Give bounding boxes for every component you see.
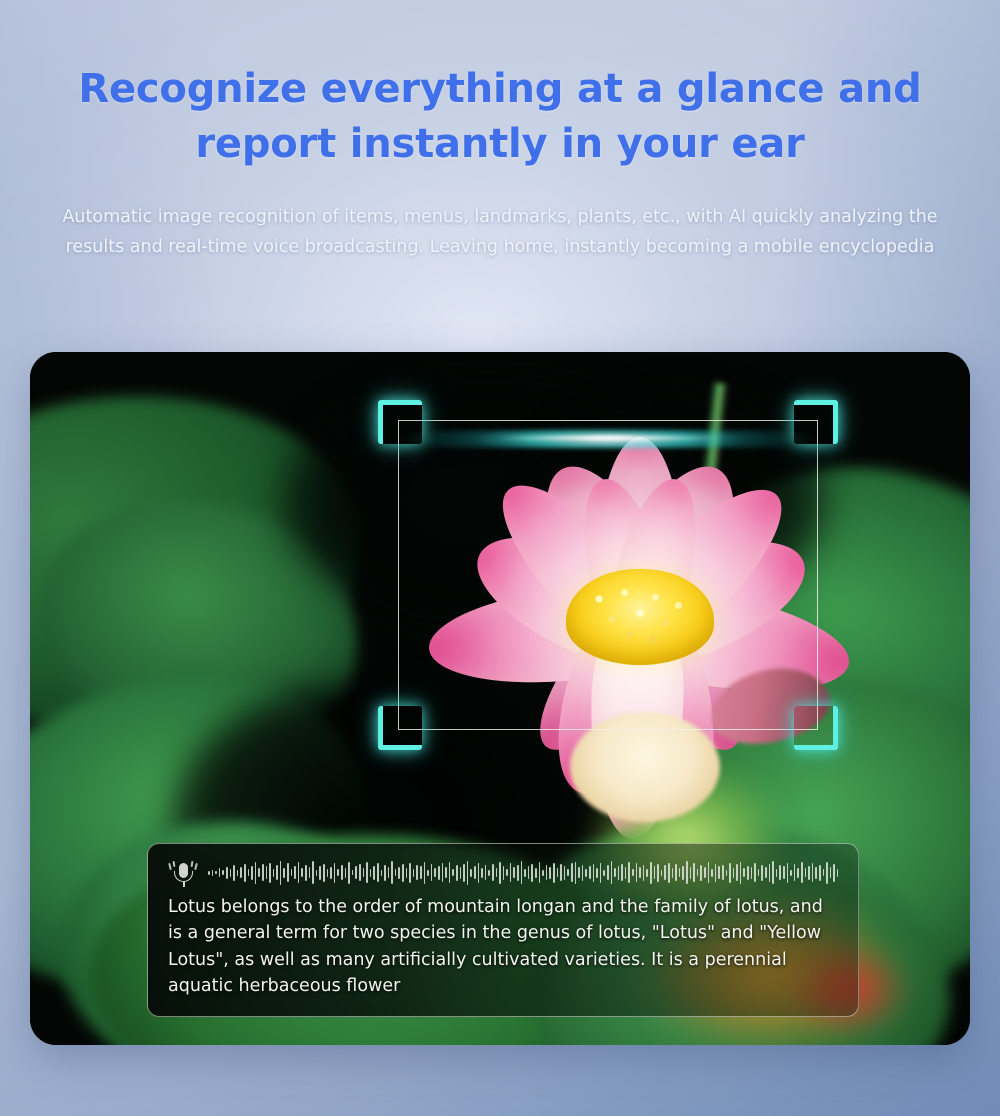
waveform-bar: [391, 861, 393, 884]
waveform-bar: [636, 863, 638, 882]
waveform-bar: [409, 863, 411, 883]
waveform-bar: [787, 863, 789, 883]
waveform-bar: [661, 870, 663, 876]
waveform-bar: [535, 868, 537, 878]
waveform-bar: [513, 867, 515, 878]
waveform-bar: [801, 862, 803, 883]
waveform-bar: [618, 866, 620, 880]
waveform-bar: [668, 863, 670, 883]
waveform-bar: [614, 868, 616, 877]
waveform-bar: [384, 865, 386, 881]
waveform-bar: [424, 862, 426, 884]
waveform-bar: [215, 871, 217, 874]
waveform-bar: [654, 866, 656, 879]
scan-corner-br-icon: [794, 706, 838, 750]
header: Recognize everything at a glance and rep…: [0, 0, 1000, 263]
scan-frame: [378, 400, 838, 750]
waveform-bar: [797, 868, 799, 878]
waveform-bar: [736, 864, 738, 881]
waveform-bar: [718, 866, 720, 879]
waveform-bar: [657, 864, 659, 882]
waveform-bar: [769, 864, 771, 882]
waveform-bar: [646, 869, 648, 877]
waveform-bar: [316, 870, 318, 876]
waveform-bar: [539, 862, 541, 883]
waveform-bar: [837, 869, 838, 877]
waveform-bar: [305, 865, 307, 881]
waveform-bar: [560, 864, 562, 881]
waveform-bar: [726, 870, 728, 876]
waveform-bar: [456, 865, 458, 881]
waveform-bar: [603, 870, 605, 876]
waveform-bar: [406, 868, 408, 878]
waveform-bar: [478, 863, 480, 883]
mic-sound-tick: [173, 861, 176, 867]
microphone-icon: [168, 859, 198, 887]
waveform-bar: [319, 866, 321, 880]
waveform-bar: [445, 867, 447, 878]
waveform-bar: [761, 865, 763, 881]
mic-sound-tick: [191, 861, 194, 867]
waveform-bar: [255, 862, 257, 884]
waveform-bar: [298, 862, 300, 883]
waveform-bar: [460, 867, 462, 879]
mic-sound-tick: [168, 862, 172, 869]
audio-indicator-row: [168, 858, 838, 888]
waveform-bar: [355, 866, 357, 879]
waveform-bar: [611, 861, 613, 884]
waveform-bar: [549, 867, 551, 879]
waveform-bar: [334, 863, 336, 883]
waveform-bar: [643, 865, 645, 881]
waveform-bar: [672, 868, 674, 878]
waveform-bar: [492, 864, 494, 881]
waveform-bar: [521, 861, 523, 884]
waveform-bar: [413, 869, 415, 877]
waveform-bar: [740, 862, 742, 884]
waveform-bar: [557, 868, 559, 877]
waveform-bar: [363, 868, 365, 877]
waveform-bar: [381, 870, 383, 876]
waveform-bar: [776, 869, 778, 877]
waveform-bar: [395, 869, 397, 876]
waveform-bar: [280, 861, 282, 885]
waveform-bar: [485, 865, 487, 880]
waveform-bar: [262, 864, 264, 881]
waveform-bar: [596, 868, 598, 878]
waveform-bar: [826, 862, 828, 884]
waveform-bar: [470, 869, 472, 877]
recognition-result-text: Lotus belongs to the order of mountain l…: [168, 894, 838, 1000]
waveform-bar: [715, 864, 717, 882]
waveform-bar: [276, 865, 278, 880]
waveform-bar: [503, 866, 505, 880]
waveform-bar: [621, 864, 623, 881]
waveform-bar: [639, 867, 641, 878]
waveform-bar: [553, 863, 555, 883]
waveform-bar: [772, 861, 774, 884]
waveform-bar: [370, 869, 372, 877]
waveform-bar: [708, 862, 710, 883]
waveform-bar: [693, 863, 695, 882]
waveform-bar: [632, 869, 634, 876]
waveform-bar: [524, 869, 526, 877]
waveform-bar: [833, 864, 835, 882]
waveform-bar: [312, 861, 314, 884]
waveform-bar: [690, 867, 692, 879]
waveform-bar: [819, 865, 821, 881]
waveform-bar: [496, 868, 498, 877]
waveform-bar: [585, 869, 587, 877]
audio-waveform-icon: [208, 860, 838, 886]
waveform-bar: [488, 870, 490, 876]
waveform-bar: [571, 863, 573, 882]
waveform-bar: [830, 867, 832, 878]
waveform-bar: [352, 870, 354, 875]
scan-frame-border: [398, 420, 818, 730]
waveform-bar: [531, 864, 533, 882]
waveform-bar: [729, 863, 731, 883]
waveform-bar: [416, 865, 418, 880]
mic-sound-tick: [194, 862, 198, 869]
scan-corner-tr-icon: [794, 400, 838, 444]
waveform-bar: [452, 869, 454, 876]
waveform-bar: [528, 866, 530, 879]
waveform-bar: [506, 869, 508, 876]
waveform-bar: [499, 862, 501, 884]
waveform-bar: [675, 864, 677, 881]
waveform-bar: [327, 869, 329, 877]
page-title: Recognize everything at a glance and rep…: [0, 62, 1000, 172]
waveform-bar: [682, 866, 684, 880]
waveform-bar: [244, 864, 246, 882]
waveform-bar: [438, 866, 440, 880]
waveform-bar: [323, 864, 325, 882]
waveform-bar: [266, 866, 268, 879]
waveform-bar: [230, 869, 232, 877]
waveform-bar: [273, 869, 275, 877]
waveform-bar: [309, 867, 311, 878]
waveform-bar: [442, 863, 444, 882]
waveform-bar: [567, 869, 569, 876]
waveform-bar: [722, 865, 724, 880]
waveform-bar: [208, 871, 210, 875]
waveform-bar: [237, 870, 239, 876]
waveform-bar: [248, 869, 250, 876]
waveform-bar: [291, 869, 293, 876]
waveform-bar: [467, 861, 469, 885]
waveform-bar: [345, 868, 347, 878]
waveform-bar: [711, 869, 713, 877]
mic-stem: [183, 881, 185, 887]
waveform-bar: [269, 863, 271, 883]
waveform-bar: [808, 866, 810, 880]
waveform-bar: [449, 862, 451, 883]
waveform-bar: [251, 866, 253, 880]
waveform-bar: [815, 867, 817, 879]
waveform-bar: [366, 862, 368, 883]
waveform-bar: [805, 868, 807, 877]
waveform-bar: [233, 865, 235, 881]
waveform-bar: [575, 862, 577, 884]
waveform-bar: [226, 867, 228, 879]
waveform-bar: [747, 866, 749, 880]
waveform-bar: [704, 867, 706, 878]
waveform-bar: [664, 865, 666, 880]
waveform-bar: [578, 867, 580, 878]
waveform-bar: [402, 864, 404, 882]
waveform-bar: [751, 867, 753, 879]
waveform-bar: [600, 863, 602, 883]
waveform-bar: [697, 869, 699, 876]
waveform-bar: [398, 867, 400, 879]
waveform-bar: [542, 870, 544, 876]
waveform-bar: [427, 870, 429, 876]
waveform-bar: [743, 868, 745, 877]
waveform-bar: [240, 867, 242, 878]
waveform-bar: [790, 870, 792, 876]
waveform-bar: [607, 865, 609, 880]
waveform-bar: [337, 869, 339, 876]
waveform-bar: [258, 868, 260, 877]
waveform-bar: [593, 864, 595, 882]
waveform-bar: [794, 864, 796, 881]
waveform-bar: [628, 862, 630, 883]
scan-corner-tl-icon: [378, 400, 422, 444]
waveform-bar: [388, 867, 390, 878]
scan-beam-core: [498, 436, 719, 440]
waveform-bar: [431, 864, 433, 881]
recognition-result-panel: Lotus belongs to the order of mountain l…: [147, 843, 859, 1017]
waveform-bar: [758, 869, 760, 876]
waveform-bar: [330, 867, 332, 879]
waveform-bar: [517, 865, 519, 881]
page-subtitle: Automatic image recognition of items, me…: [0, 202, 1000, 262]
scan-corner-bl-icon: [378, 706, 422, 750]
waveform-bar: [700, 865, 702, 881]
waveform-bar: [564, 866, 566, 880]
waveform-bar: [679, 868, 681, 877]
waveform-bar: [373, 866, 375, 880]
waveform-bar: [301, 868, 303, 877]
waveform-bar: [359, 864, 361, 881]
waveform-bar: [510, 863, 512, 882]
waveform-bar: [783, 866, 785, 879]
waveform-bar: [222, 870, 224, 875]
waveform-bar: [686, 861, 688, 884]
waveform-bar: [823, 869, 825, 876]
waveform-bar: [348, 862, 350, 884]
waveform-bar: [582, 865, 584, 881]
waveform-bar: [294, 866, 296, 879]
waveform-bar: [812, 863, 814, 882]
waveform-bar: [481, 868, 483, 878]
waveform-bar: [434, 868, 436, 877]
waveform-bar: [779, 865, 781, 880]
waveform-bar: [219, 868, 221, 877]
waveform-bar: [765, 867, 767, 878]
waveform-bar: [754, 863, 756, 882]
waveform-bar: [733, 868, 735, 878]
waveform-bar: [463, 864, 465, 882]
waveform-bar: [283, 868, 285, 878]
waveform-bar: [287, 863, 289, 882]
waveform-bar: [625, 867, 627, 879]
waveform-bar: [420, 866, 422, 879]
waveform-bar: [546, 865, 548, 880]
waveform-bar: [212, 870, 214, 876]
waveform-bar: [474, 866, 476, 879]
waveform-bar: [589, 866, 591, 879]
waveform-bar: [341, 865, 343, 880]
waveform-bar: [377, 863, 379, 882]
waveform-bar: [650, 862, 652, 884]
recognition-demo-card: Lotus belongs to the order of mountain l…: [30, 352, 970, 1045]
